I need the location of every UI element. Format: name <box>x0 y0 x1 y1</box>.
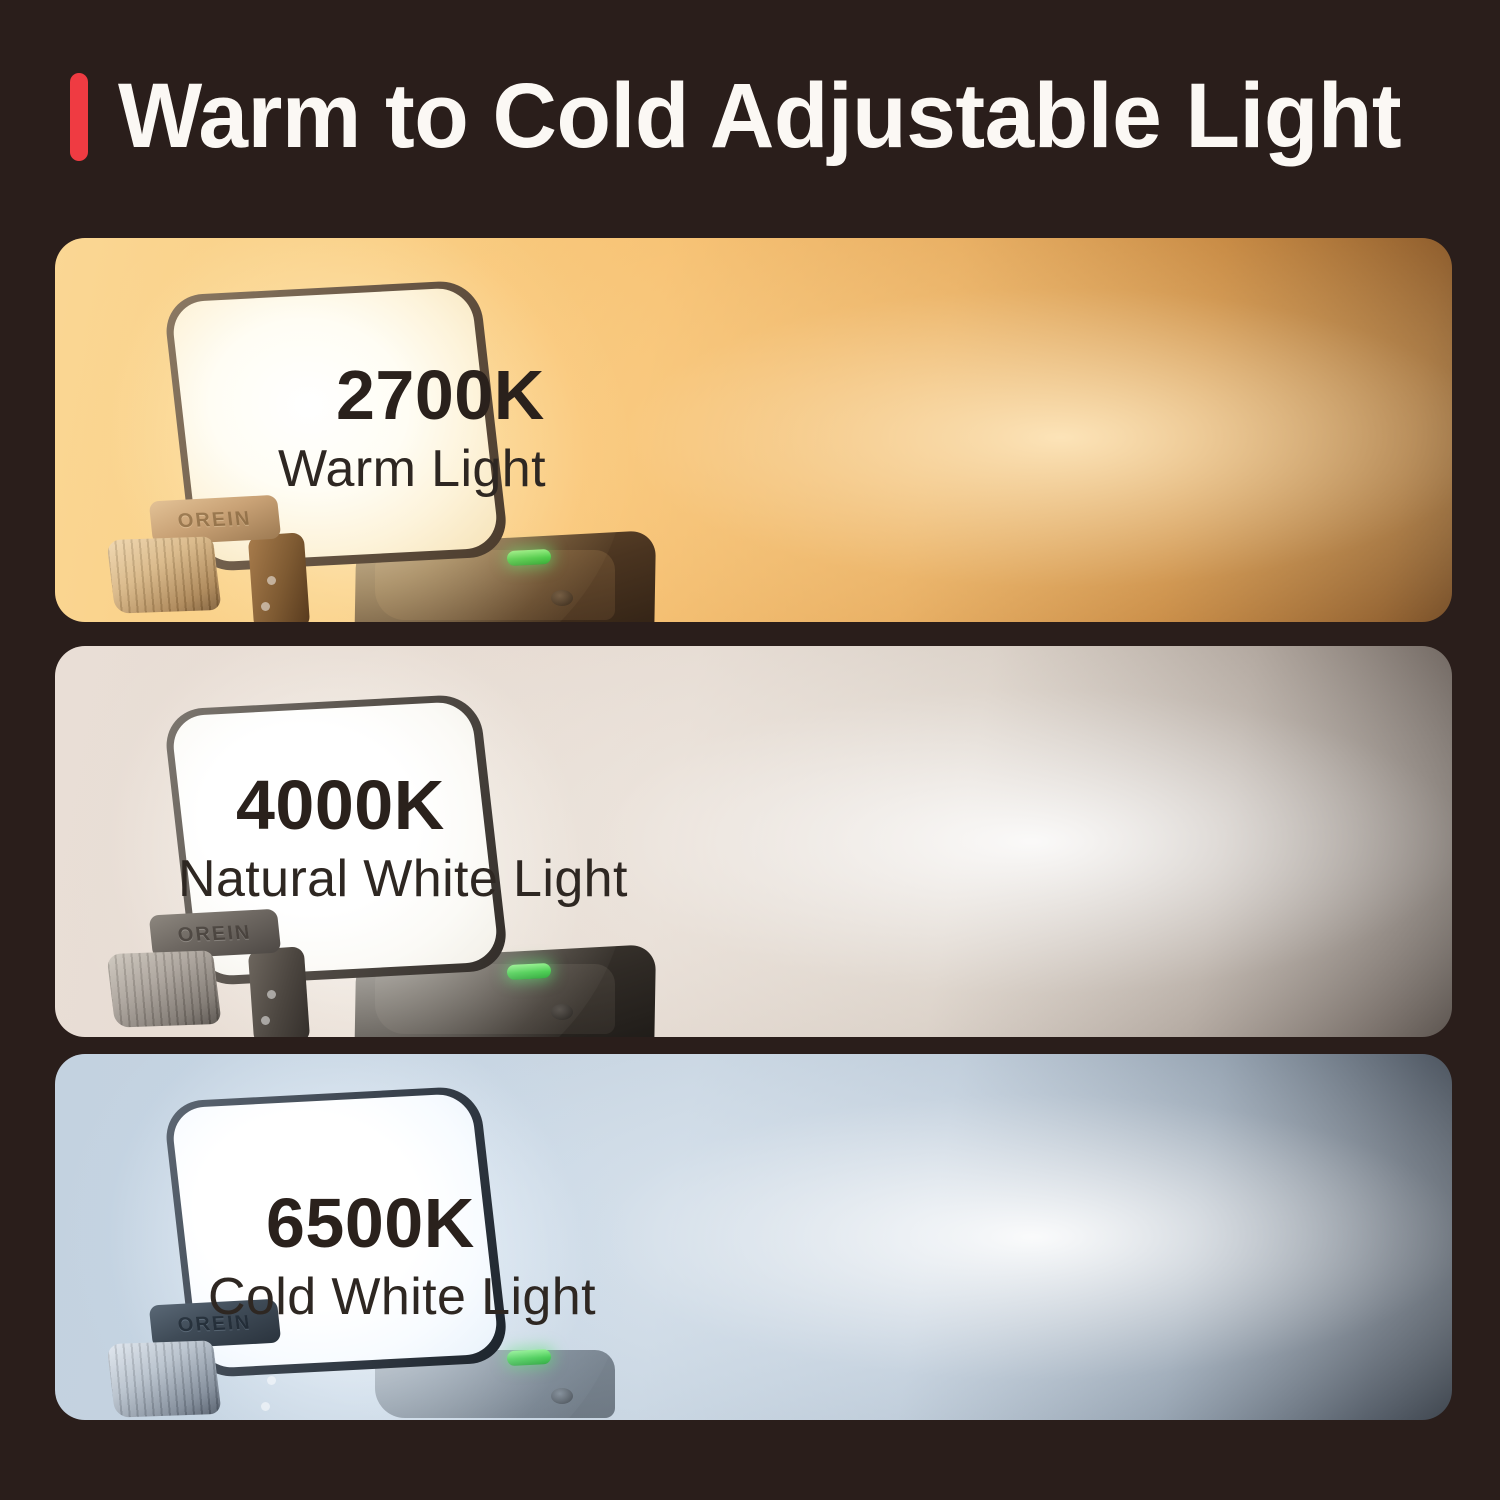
panel-label-warm: 2700K Warm Light <box>278 358 546 500</box>
accent-bar-icon <box>70 73 88 161</box>
kelvin-value: 4000K <box>236 768 628 842</box>
kelvin-value: 6500K <box>266 1186 596 1260</box>
infographic-page: Warm to Cold Adjustable Light OREIN <box>0 0 1500 1500</box>
light-name: Cold White Light <box>208 1266 596 1328</box>
panel-background-warm <box>55 238 1452 622</box>
light-name: Warm Light <box>278 438 546 500</box>
page-title: Warm to Cold Adjustable Light <box>118 64 1401 169</box>
color-temperature-panel-warm: OREIN <box>55 238 1452 622</box>
header: Warm to Cold Adjustable Light <box>0 0 1500 232</box>
kelvin-value: 2700K <box>336 358 546 432</box>
panel-label-cold: 6500K Cold White Light <box>208 1186 596 1328</box>
light-name: Natural White Light <box>178 848 628 910</box>
panel-label-neutral: 4000K Natural White Light <box>178 768 628 910</box>
